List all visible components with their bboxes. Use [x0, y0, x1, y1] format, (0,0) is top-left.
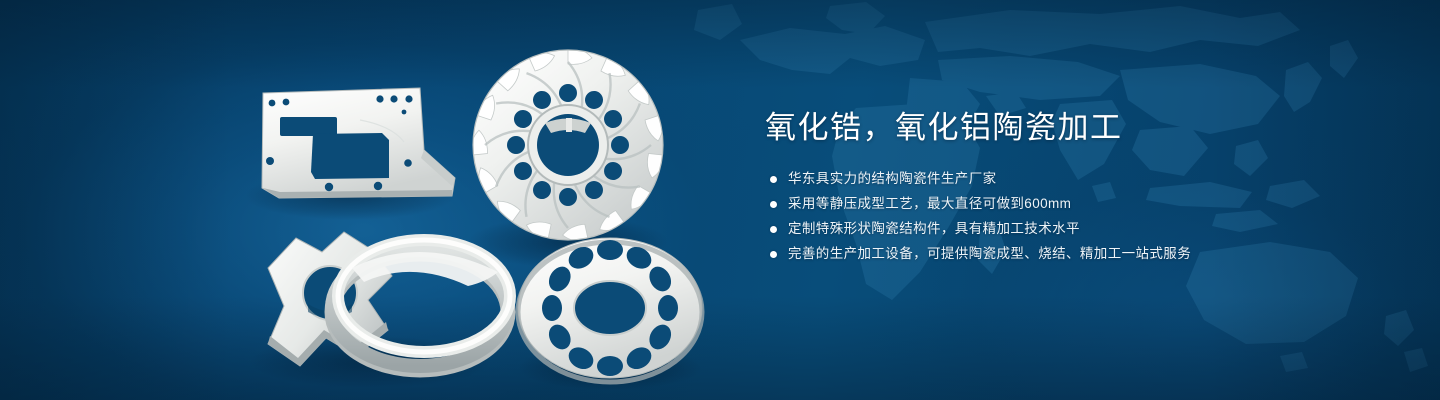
feature-text: 完善的生产加工设备，可提供陶瓷成型、烧结、精加工一站式服务 [788, 243, 1191, 265]
feature-text: 定制特殊形状陶瓷结构件，具有精加工技术水平 [788, 218, 1080, 240]
list-item: 采用等静压成型工艺，最大直径可做到600mm [770, 193, 1385, 215]
feature-text: 华东具实力的结构陶瓷件生产厂家 [788, 168, 997, 190]
bullet-dot-icon [770, 226, 777, 233]
banner-copy: 氧化锆，氧化铝陶瓷加工 华东具实力的结构陶瓷件生产厂家 采用等静压成型工艺，最大… [765, 108, 1385, 268]
bullet-dot-icon [770, 176, 777, 183]
list-item: 完善的生产加工设备，可提供陶瓷成型、烧结、精加工一站式服务 [770, 243, 1385, 265]
list-item: 华东具实力的结构陶瓷件生产厂家 [770, 168, 1385, 190]
feature-list: 华东具实力的结构陶瓷件生产厂家 采用等静压成型工艺，最大直径可做到600mm 定… [770, 168, 1385, 265]
list-item: 定制特殊形状陶瓷结构件，具有精加工技术水平 [770, 218, 1385, 240]
feature-text: 采用等静压成型工艺，最大直径可做到600mm [788, 193, 1071, 215]
bullet-dot-icon [770, 251, 777, 258]
bullet-dot-icon [770, 201, 777, 208]
promo-banner: 氧化锆，氧化铝陶瓷加工 华东具实力的结构陶瓷件生产厂家 采用等静压成型工艺，最大… [0, 0, 1440, 400]
banner-headline: 氧化锆，氧化铝陶瓷加工 [765, 108, 1385, 148]
